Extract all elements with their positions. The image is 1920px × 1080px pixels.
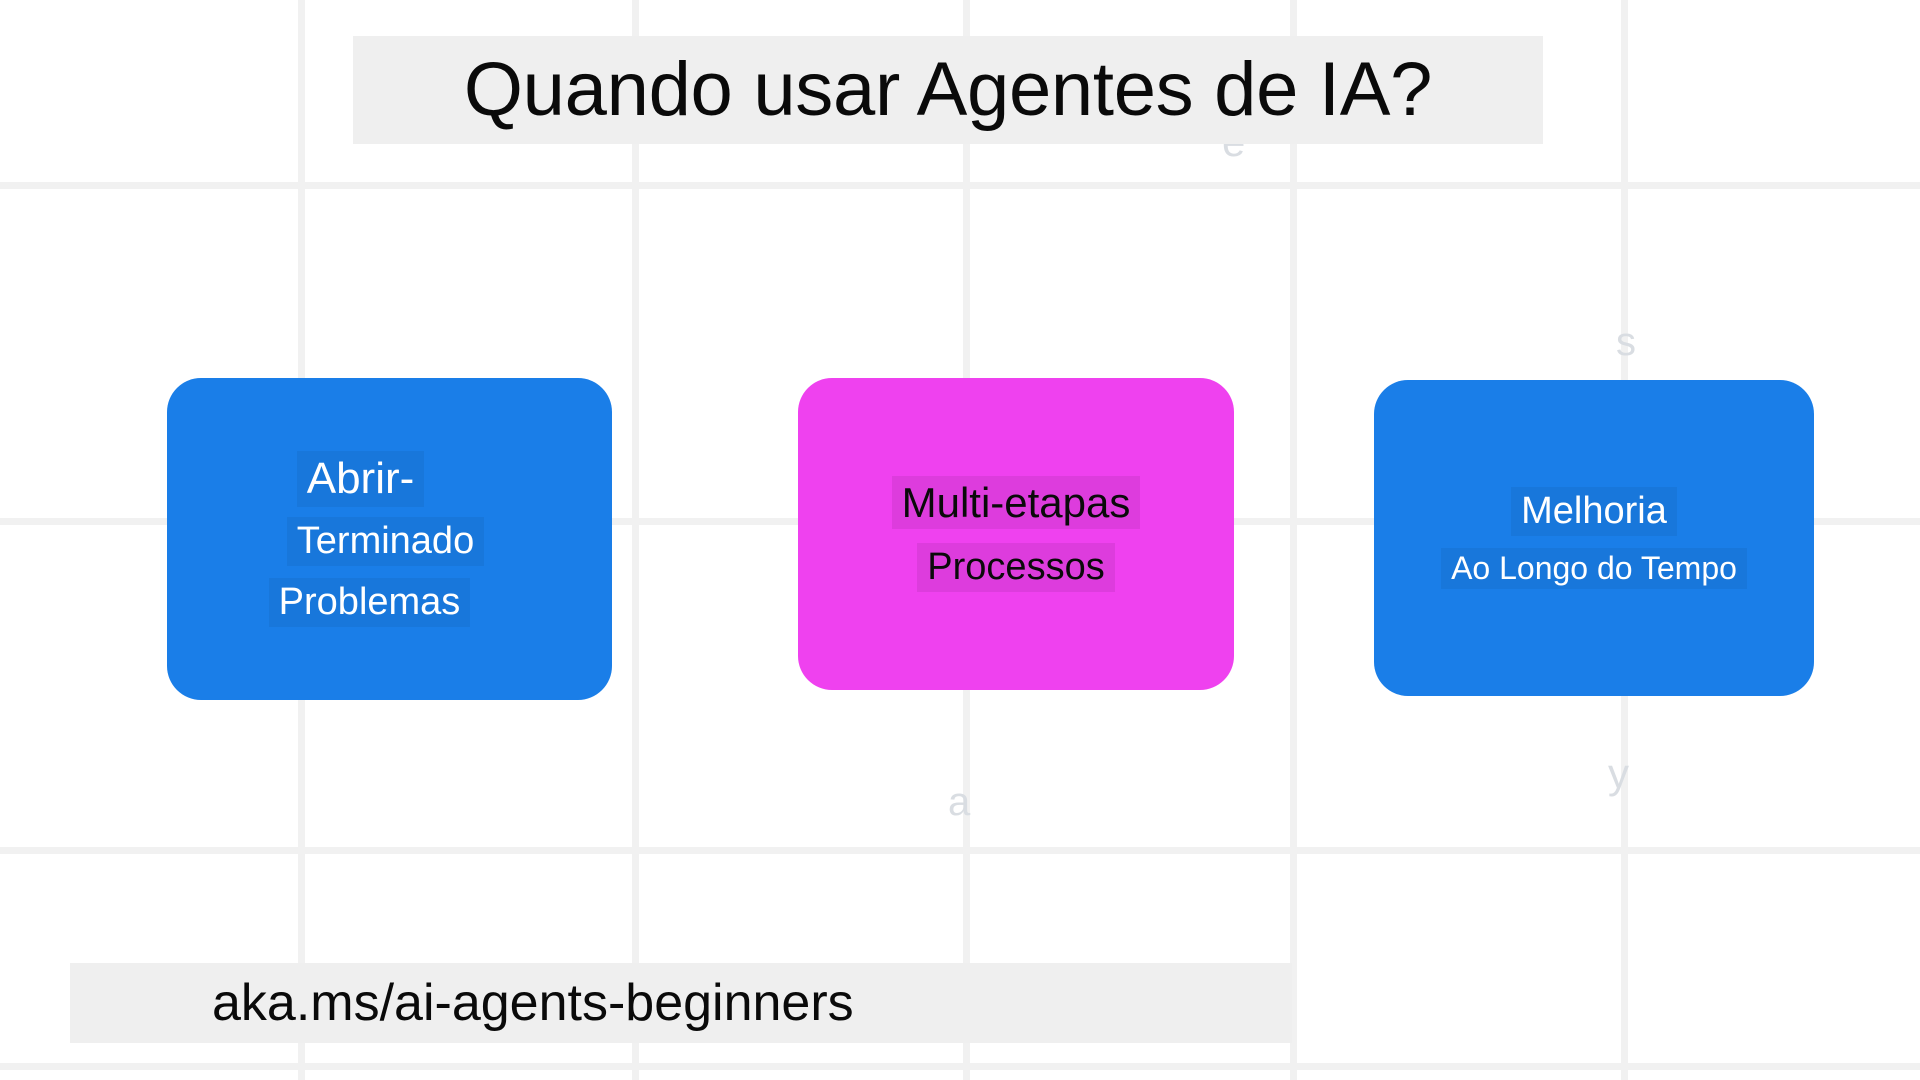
card-line: Problemas <box>269 578 471 627</box>
slide-canvas: e s y a ) Quando usar Agentes de IA? Abr… <box>0 0 1920 1080</box>
card-line: Abrir- <box>297 451 425 507</box>
card-line: Terminado <box>287 517 484 566</box>
card-multistep-processes[interactable]: Multi-etapas Processos <box>798 378 1234 690</box>
card-row: Abrir- Terminado Problemas Multi-etapas … <box>0 0 1920 1080</box>
card-improvement-over-time[interactable]: Melhoria Ao Longo do Tempo <box>1374 380 1814 696</box>
card-line: Multi-etapas <box>892 476 1141 530</box>
footer-link[interactable]: aka.ms/ai-agents-beginners <box>70 963 1292 1043</box>
card-open-ended-problems[interactable]: Abrir- Terminado Problemas <box>167 378 612 700</box>
card-line: Melhoria <box>1511 487 1677 536</box>
card-line: Ao Longo do Tempo <box>1441 548 1747 590</box>
card-line: Processos <box>917 543 1114 592</box>
